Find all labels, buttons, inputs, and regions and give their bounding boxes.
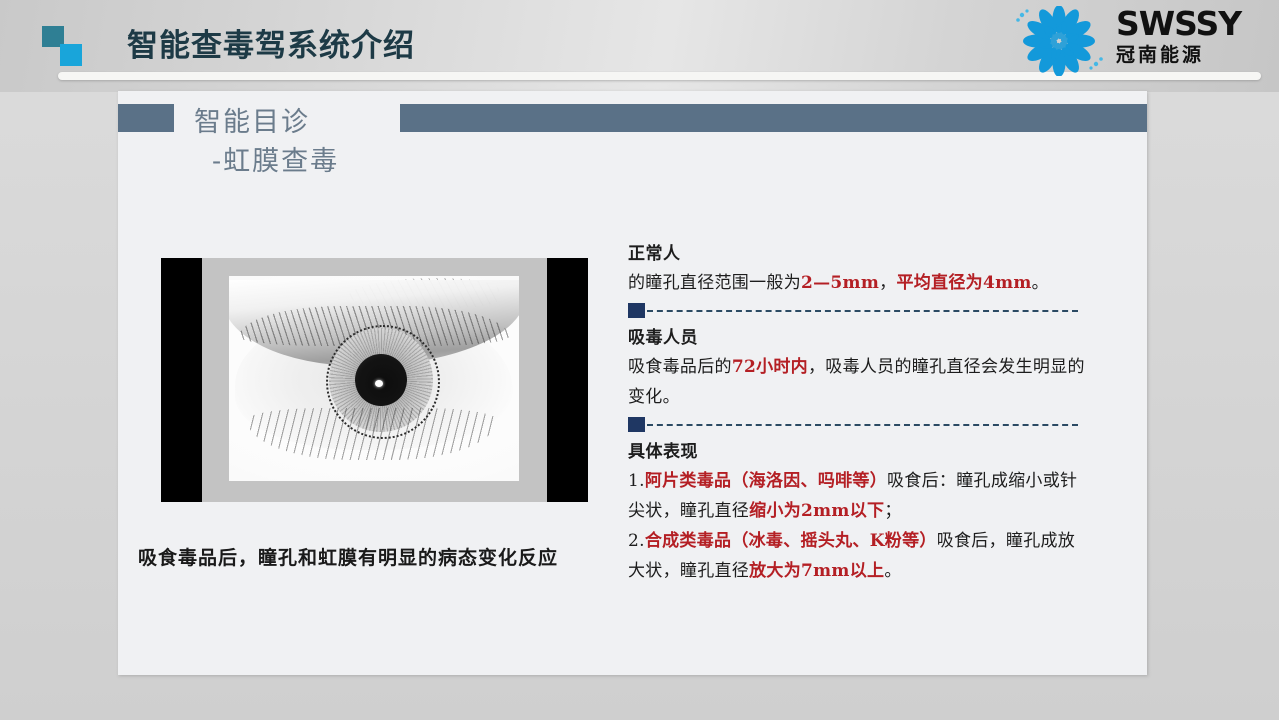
eye-image-frame (202, 258, 547, 502)
right-text-column: 正常人 的瞳孔直径范围一般为2—5mm，平均直径为4mm。 吸毒人员 吸食毒品后… (628, 241, 1088, 586)
text-block-drug-user: 吸毒人员 吸食毒品后的72小时内，吸毒人员的瞳孔直径会发生明显的变化。 (628, 325, 1088, 412)
separator-dashed-line (647, 424, 1078, 426)
item-part-red: 缩小为2mm以下 (749, 501, 884, 521)
decorative-squares-logo (42, 26, 88, 66)
section-separator (628, 300, 1088, 322)
slide-title-line2: -虹膜查毒 (212, 142, 714, 181)
content-panel: 智能目诊 -虹膜查毒 吸食 (118, 91, 1147, 675)
flower-petal-icon (1010, 6, 1108, 76)
separator-square-icon (628, 417, 645, 432)
block-heading: 正常人 (628, 241, 1088, 268)
slide-title-line1: 智能目诊 (194, 107, 310, 138)
slide-title: 智能目诊 -虹膜查毒 (194, 103, 714, 181)
eye-photo (229, 276, 519, 481)
slide-canvas: 智能查毒驾系统介绍 (0, 0, 1279, 720)
brand-name: SWSSY (1116, 6, 1241, 42)
list-number: 1. (628, 471, 645, 491)
section-separator (628, 414, 1088, 436)
eye-image-letterbox (161, 258, 588, 502)
block-body: 的瞳孔直径范围一般为2—5mm，平均直径为4mm。 (628, 268, 1088, 298)
item-part: 。 (884, 561, 901, 581)
corneal-glint (375, 380, 383, 387)
lower-eyelash-shape (247, 408, 497, 460)
page-title: 智能查毒驾系统介绍 (127, 20, 415, 65)
brand-text: SWSSY 冠南能源 (1116, 6, 1241, 67)
body-part: ， (879, 273, 896, 293)
item-part: ； (884, 501, 901, 521)
body-part: 。 (1032, 273, 1049, 293)
list-item: 1.阿片类毒品（海洛因、吗啡等）吸食后：瞳孔成缩小或针尖状，瞳孔直径缩小为2mm… (628, 466, 1088, 526)
body-part-red: 2—5mm (801, 273, 879, 293)
square-light-icon (60, 44, 82, 66)
body-part: 的瞳孔直径范围一般为 (628, 273, 801, 293)
separator-square-icon (628, 303, 645, 318)
block-heading: 具体表现 (628, 439, 1088, 466)
separator-dashed-line (647, 310, 1078, 312)
body-part: 吸食毒品后的 (628, 357, 732, 377)
brand-subtitle: 冠南能源 (1116, 43, 1241, 67)
item-part-red: 合成类毒品（冰毒、摇头丸、K粉等） (645, 531, 937, 551)
item-part-red: 阿片类毒品（海洛因、吗啡等） (645, 471, 887, 491)
body-part-red: 平均直径为4mm (896, 273, 1031, 293)
list-number: 2. (628, 531, 645, 551)
block-heading: 吸毒人员 (628, 325, 1088, 352)
slide-header: 智能查毒驾系统介绍 (0, 0, 1279, 92)
item-part-red: 放大为7mm以上 (749, 561, 884, 581)
list-item: 2.合成类毒品（冰毒、摇头丸、K粉等）吸食后，瞳孔成放大状，瞳孔直径放大为7mm… (628, 526, 1088, 586)
brand-logo: SWSSY 冠南能源 (1010, 4, 1265, 78)
eye-image-caption: 吸食毒品后，瞳孔和虹膜有明显的病态变化反应 (138, 543, 658, 570)
body-part-red: 72小时内 (732, 357, 808, 377)
text-block-normal-person: 正常人 的瞳孔直径范围一般为2—5mm，平均直径为4mm。 (628, 241, 1088, 298)
text-block-manifestations: 具体表现 1.阿片类毒品（海洛因、吗啡等）吸食后：瞳孔成缩小或针尖状，瞳孔直径缩… (628, 439, 1088, 586)
block-body: 吸食毒品后的72小时内，吸毒人员的瞳孔直径会发生明显的变化。 (628, 352, 1088, 412)
